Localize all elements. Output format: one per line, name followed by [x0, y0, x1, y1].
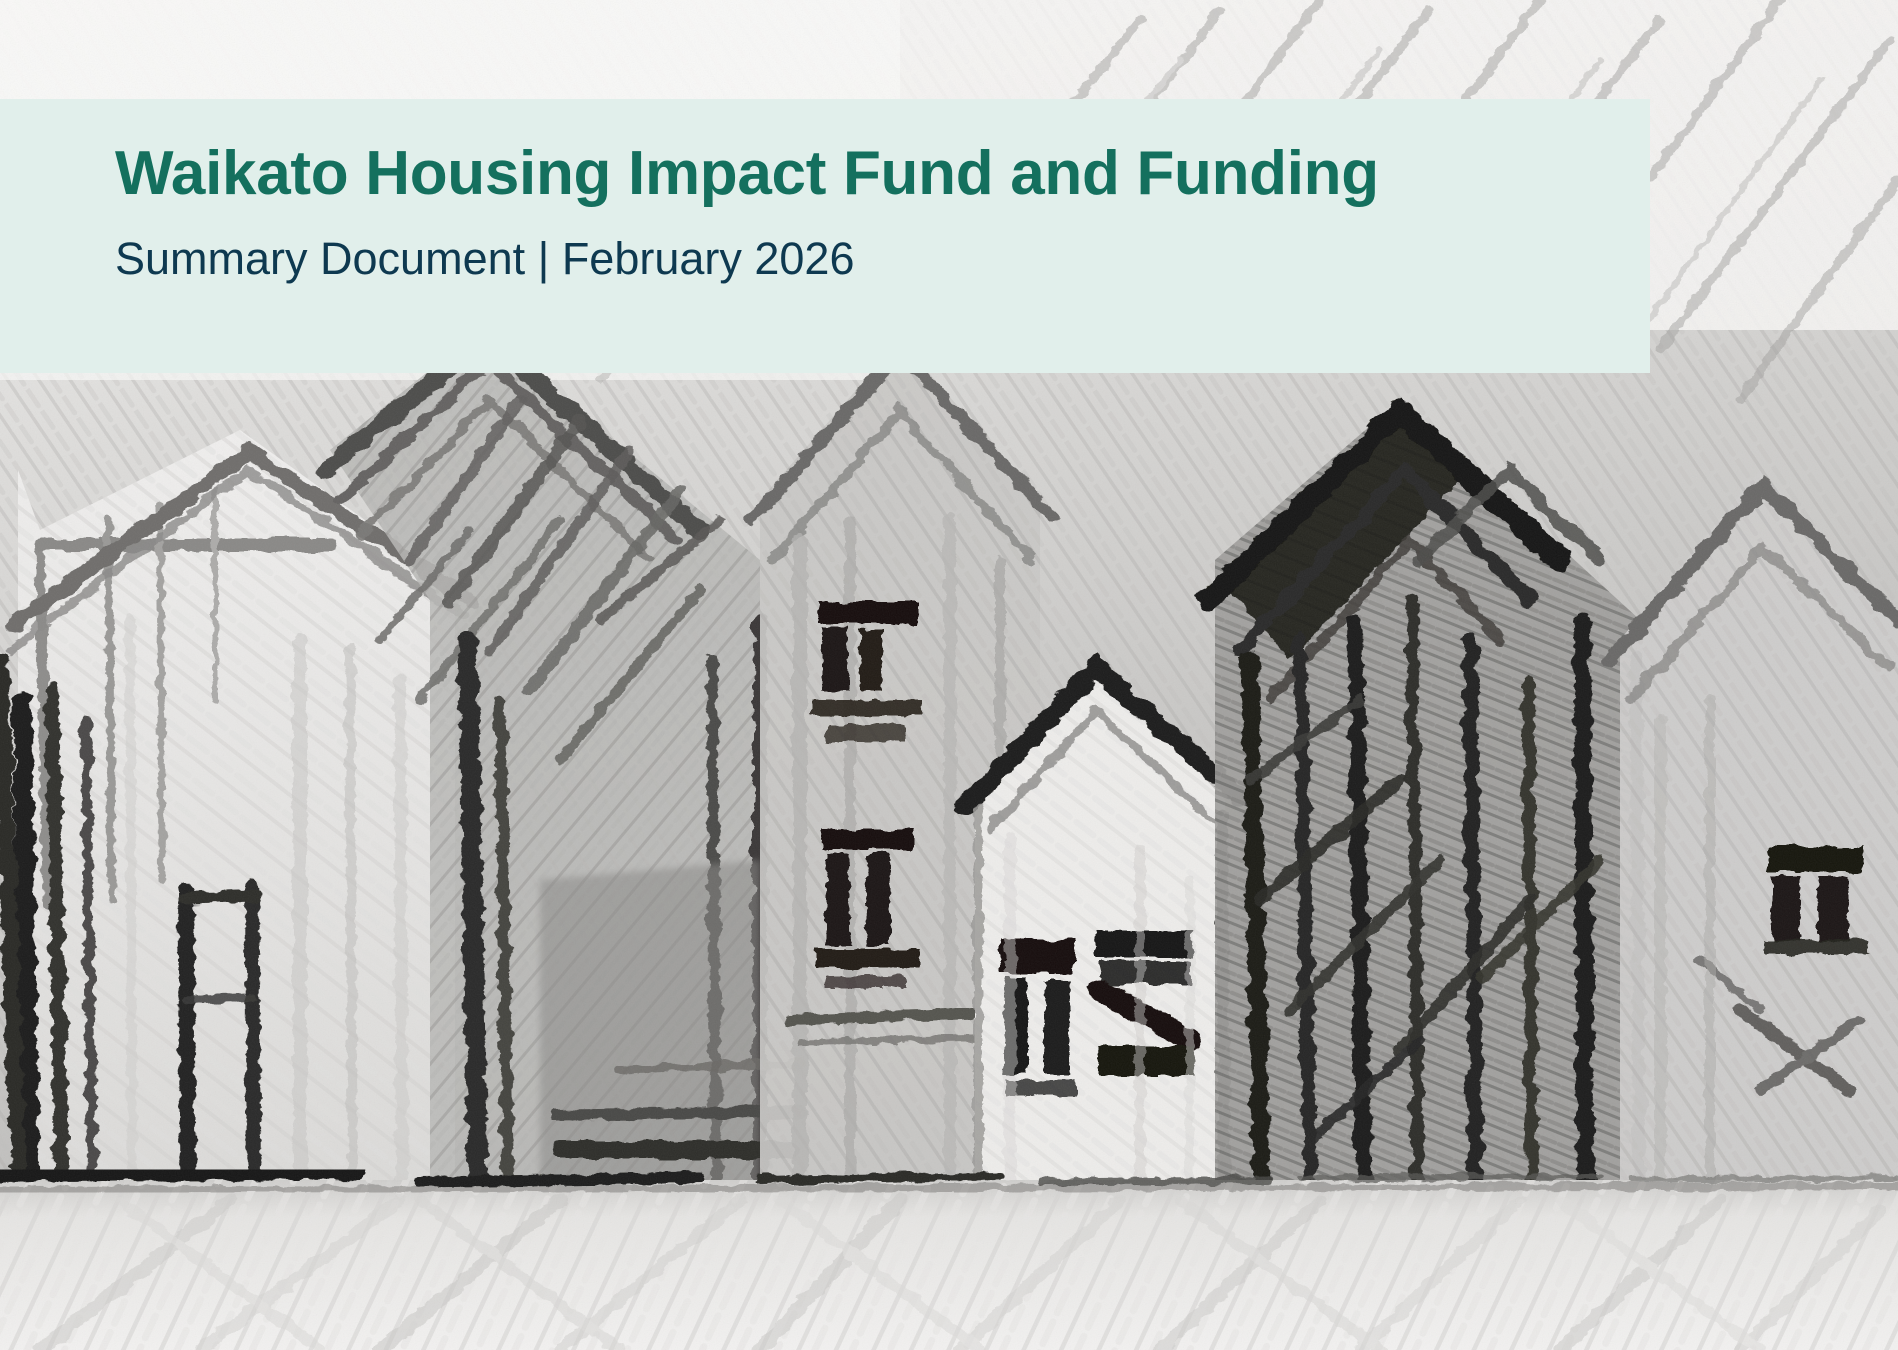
cover-page: Waikato Housing Impact Fund and Funding … — [0, 0, 1898, 1350]
page-title: Waikato Housing Impact Fund and Funding — [115, 141, 1590, 208]
page-subtitle: Summary Document | February 2026 — [115, 234, 1590, 284]
title-banner: Waikato Housing Impact Fund and Funding … — [0, 99, 1650, 373]
